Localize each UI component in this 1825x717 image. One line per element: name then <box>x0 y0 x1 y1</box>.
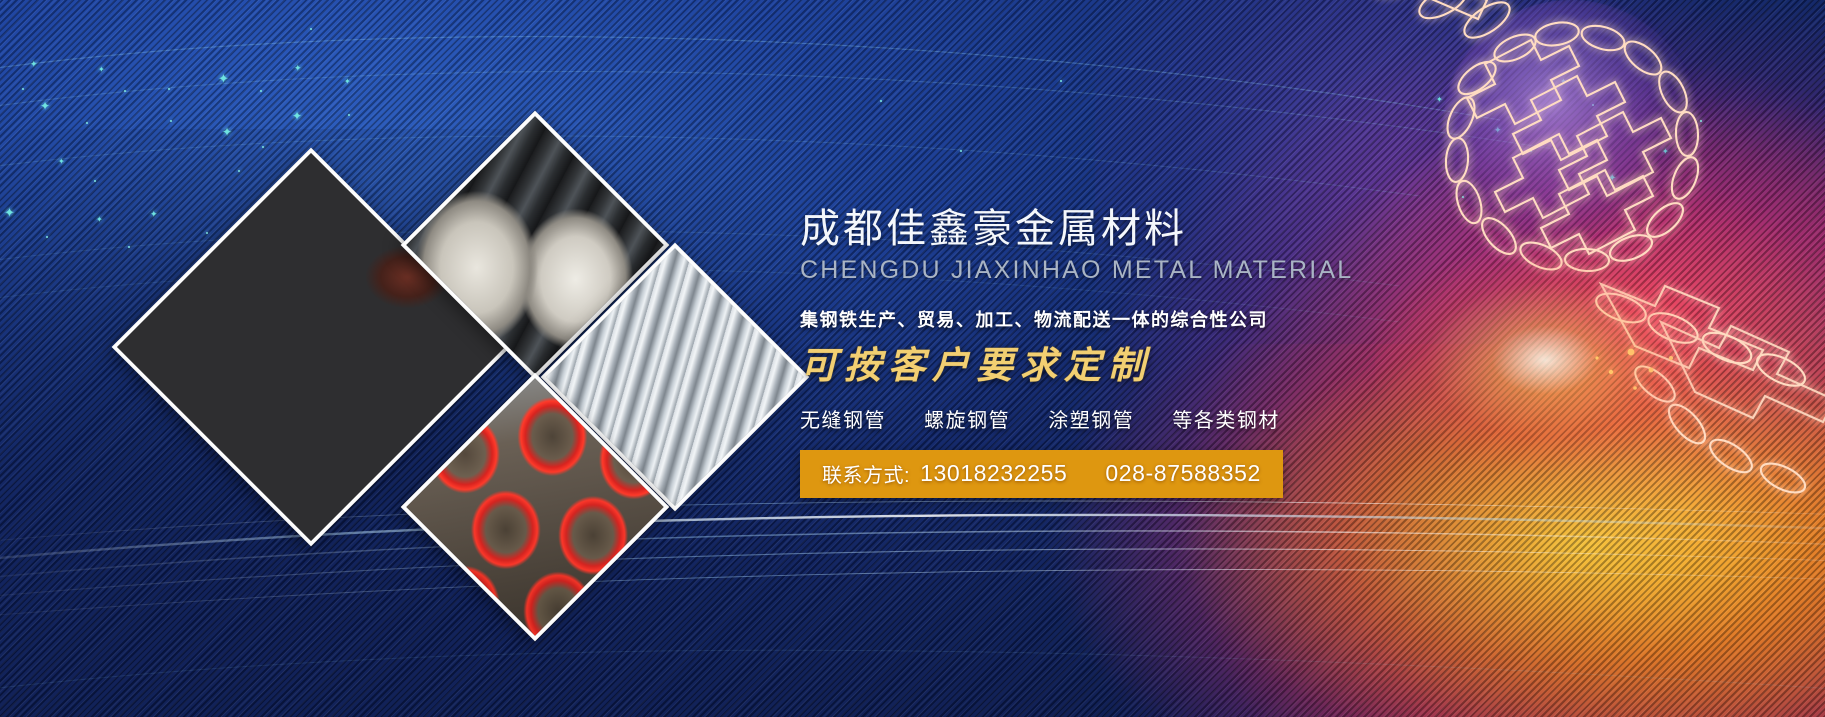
product-item-coated: 涂塑钢管 <box>1048 410 1134 432</box>
contact-bar[interactable]: 联系方式: 13018232255 028-87588352 <box>800 450 1283 498</box>
company-tagline: 集钢铁生产、贸易、加工、物流配送一体的综合性公司 <box>800 306 1440 332</box>
headline-text-block: 成都佳鑫豪金属材料 CHENGDU JIAXINHAO METAL MATERI… <box>800 206 1440 498</box>
contact-label: 联系方式: <box>822 459 910 488</box>
company-name-cn: 成都佳鑫豪金属材料 <box>800 206 1440 253</box>
company-name-en: CHENGDU JIAXINHAO METAL MATERIAL <box>800 256 1440 285</box>
product-item-others: 等各类钢材 <box>1172 410 1280 432</box>
contact-landline-number[interactable]: 028-87588352 <box>1105 460 1261 487</box>
promo-banner: ✦ ✦ ✦ ✦ ✦ ✦ ✦ ✦ ✦ ✦ ✦ ✦ ✦ ✦ ✦ ✦ ✦ <box>0 0 1825 717</box>
product-photo-collage <box>140 112 740 572</box>
custom-order-headline: 可按客户要求定制 <box>800 344 1440 388</box>
contact-mobile-number[interactable]: 13018232255 <box>920 460 1067 487</box>
product-list: 无缝钢管 螺旋钢管 涂塑钢管 等各类钢材 <box>800 404 1440 433</box>
product-item-spiral: 螺旋钢管 <box>924 410 1010 432</box>
product-item-seamless: 无缝钢管 <box>800 410 886 432</box>
